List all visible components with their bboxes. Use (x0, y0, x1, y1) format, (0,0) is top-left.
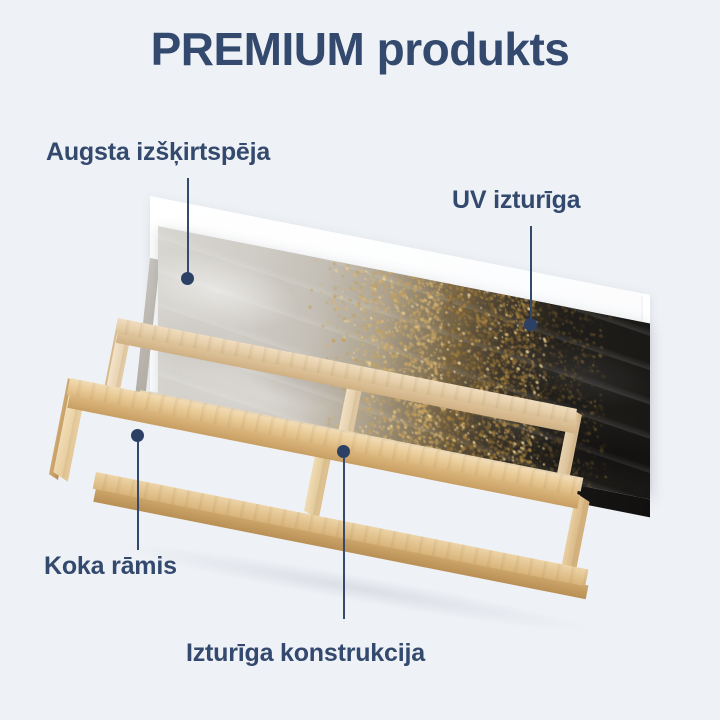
callout-line-resolution (187, 178, 189, 279)
callout-label-frame: Koka rāmis (44, 552, 177, 581)
callout-dot-construction (337, 445, 350, 458)
callout-line-uv (530, 226, 532, 325)
exploded-product-illustration (0, 0, 720, 720)
callout-dot-resolution (181, 272, 194, 285)
callout-label-construction: Izturīga konstrukcija (186, 639, 425, 668)
callout-line-construction (343, 453, 345, 619)
callout-dot-uv (524, 318, 537, 331)
callout-line-frame (137, 437, 139, 550)
page-title-prefix: PREMIUM (151, 23, 365, 75)
callout-dot-frame (131, 429, 144, 442)
page-title-suffix: produkts (364, 23, 569, 75)
page-title: PREMIUM produkts (0, 22, 720, 76)
callout-label-uv: UV izturīga (452, 186, 580, 215)
callout-label-resolution: Augsta izšķirtspēja (46, 138, 270, 167)
infographic-canvas: PREMIUM produkts Augsta izšķirtspēja UV … (0, 0, 720, 720)
